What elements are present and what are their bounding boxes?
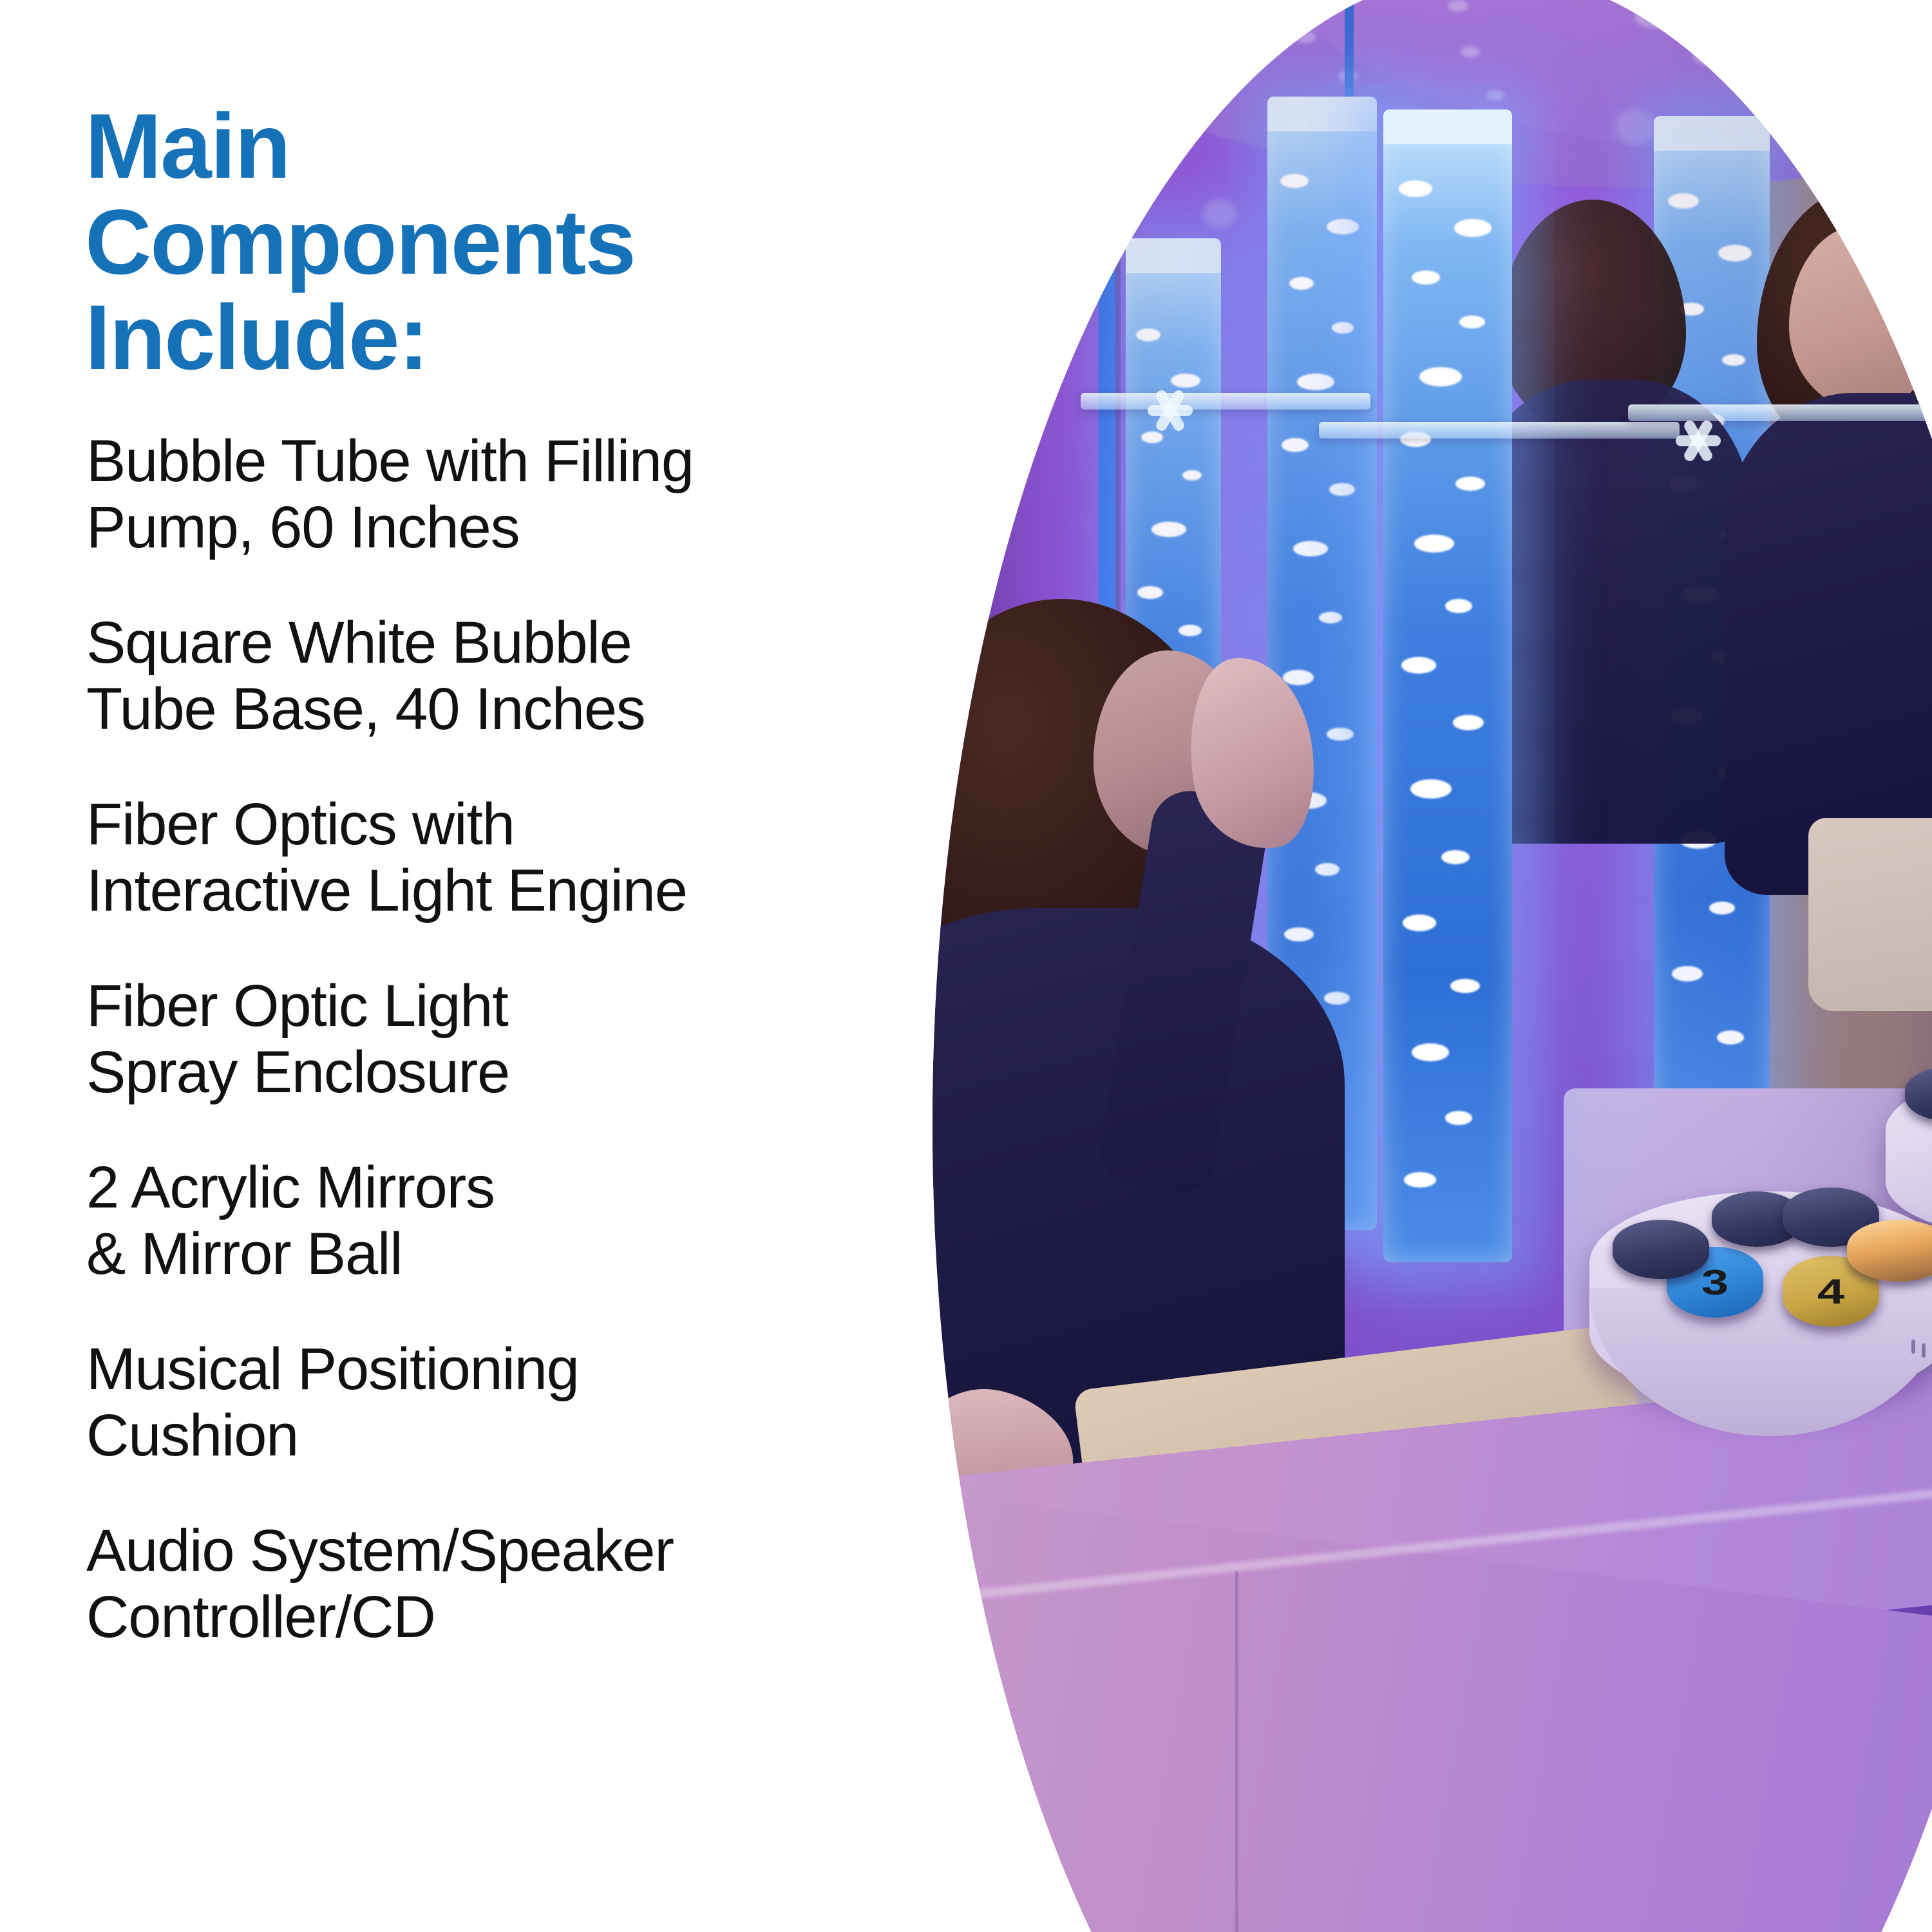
list-item-line-1: Fiber Optics with [86,791,515,857]
promo-graphic: Main Components Include: Bubble Tube wit… [0,0,1932,1932]
list-item-line-2: Pump, 60 Inches [86,495,519,560]
bubble-tube-front [1383,109,1512,1262]
pod-top-secondary [1886,1075,1932,1236]
heading-line-1: Main [85,95,290,198]
arm-raised [1095,786,1273,1198]
room-wall [933,0,1932,1932]
heading-line-2: Components [85,191,635,294]
bench-edge-highlight [933,1462,1932,1613]
hand-on-bench [933,1374,1086,1531]
text-panel: Main Components Include: Bubble Tube wit… [0,0,953,1932]
photo-color-grade [933,0,1932,1932]
list-item: 2 Acrylic Mirrors & Mirror Ball [86,1155,917,1287]
legs [1074,1303,1823,1659]
list-item: Audio System/Speaker Controller/CD [86,1518,917,1651]
list-item-line-2: Interactive Light Engine [86,858,687,923]
list-item: Fiber Optic Light Spray Enclosure [86,973,917,1106]
tube-cap [1383,109,1512,144]
list-item-line-2: Tube Base, 40 Inches [86,676,645,742]
controller-button-4[interactable]: 4 [1783,1256,1879,1327]
controller-button-3[interactable]: 3 [1667,1247,1763,1318]
list-item-line-2: & Mirror Ball [86,1221,402,1287]
list-item: Bubble Tube with Filling Pump, 60 Inches [86,428,917,561]
bench-platform-right [1564,1088,1932,1488]
hand-touching-tube [1177,649,1325,858]
list-item: Musical Positioning Cushion [86,1336,917,1469]
list-item-line-2: Cushion [86,1403,298,1468]
controller-knob-secondary-a[interactable] [1905,1066,1932,1122]
hair [933,599,1242,1011]
torso [933,908,1345,1539]
bench-front-face [933,1482,1932,1932]
pod-top [1589,1191,1932,1404]
tube-cap [1267,97,1377,131]
list-item-line-1: Musical Positioning [86,1336,579,1402]
list-item-line-1: Fiber Optic Light [86,973,508,1039]
pod-side [1589,1288,1932,1436]
bench-seam [1235,1571,1238,1932]
tube-cap [1126,238,1221,273]
controller-knob-left[interactable] [1613,1220,1709,1279]
list-item-line-2: Spray Enclosure [86,1039,509,1105]
list-item-line-1: Audio System/Speaker [86,1518,674,1584]
list-item-line-1: Bubble Tube with Filling [86,428,694,494]
controller-knob-top[interactable] [1712,1191,1802,1247]
list-item: Square White Bubble Tube Base, 40 Inches [86,610,917,743]
canopy-light-dots [1126,0,1932,148]
bubble-tube-mid [1267,97,1377,1230]
photo-vignette [933,0,1932,1932]
heading-line-3: Include: [85,287,428,389]
page-title: Main Components Include: [85,99,896,386]
list-item-line-2: Controller/CD [86,1584,435,1650]
acrylic-shelf-center [1319,422,1680,439]
beige-wall [1750,0,1932,1385]
acrylic-flower-ornament [1673,415,1723,466]
wall-seam [1115,0,1121,734]
bubble-tube-right [1654,116,1770,1159]
tube-cap [1654,116,1770,151]
sock-right [1712,1312,1859,1508]
sock-left [1611,1273,1794,1496]
pod-vent [1922,1343,1926,1358]
acrylic-shelf-right [1628,404,1932,421]
ceiling-canopy-front [1267,0,1932,161]
acrylic-flower-ornament-left [1145,385,1195,435]
bench-top [933,1346,1932,1720]
wall-pad-blue-strip [1099,0,1115,702]
components-list: Bubble Tube with Filling Pump, 60 Inches… [86,428,917,1651]
controller-knob-center[interactable] [1783,1188,1879,1247]
bubble-tube-back-left [1126,238,1221,1204]
list-item: Fiber Optics with Interactive Light Engi… [86,791,917,924]
list-item-line-1: 2 Acrylic Mirrors [86,1155,495,1220]
face [1094,650,1248,857]
list-item-line-1: Square White Bubble [86,610,632,676]
ceiling-canopy [984,0,1932,187]
hanging-cable [1345,0,1354,116]
sensory-room-photo: 3 4 [933,0,1932,1932]
controller-knob-right[interactable] [1847,1220,1932,1282]
pod-vent [1911,1340,1915,1354]
acrylic-shelf-left [1081,393,1370,410]
